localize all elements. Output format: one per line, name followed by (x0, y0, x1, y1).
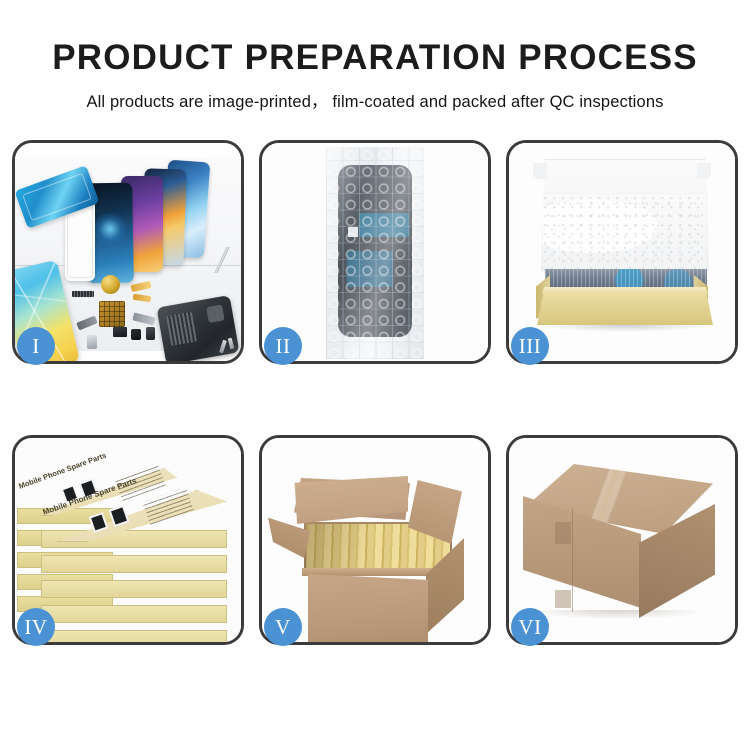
tweezers-tool (205, 247, 239, 273)
drop-shadow (543, 325, 707, 332)
box-stack: Mobile Phone Spare Parts Mobile Phone Sp… (15, 438, 241, 642)
carton-flap-mark-bottom (555, 590, 571, 608)
process-step-4: Mobile Phone Spare Parts Mobile Phone Sp… (12, 435, 244, 645)
carton-front-panel (308, 574, 428, 642)
mailer-front-panel (537, 291, 713, 325)
open-mailer-box-photo (509, 143, 735, 361)
carton-edge-seam (572, 508, 573, 612)
front-box-tier-3 (41, 580, 227, 598)
front-box-tier-2 (41, 555, 227, 573)
step-badge-6: VI (511, 608, 549, 646)
box-print-spec-text-front (142, 487, 193, 525)
stacked-retail-boxes-photo: Mobile Phone Spare Parts Mobile Phone Sp… (15, 438, 241, 642)
process-step-3-image (509, 143, 735, 361)
mailer-lid-tab-right (697, 163, 711, 179)
step-badge-1: I (17, 327, 55, 365)
plastic-gloss-highlight (326, 147, 424, 359)
sealed-shipping-carton-photo (509, 438, 735, 642)
process-step-5: V (259, 435, 491, 645)
earpiece-speaker (72, 291, 94, 297)
vibration-motor (146, 327, 155, 340)
page-subtitle: All products are image-printed， film-coa… (0, 88, 750, 112)
process-step-2-image (262, 143, 488, 361)
chip-grid-part (99, 301, 125, 327)
camera-module-1 (113, 327, 127, 337)
camera-module-2 (131, 329, 141, 340)
step-badge-3: III (511, 327, 549, 365)
front-box-tier-4 (41, 605, 227, 623)
page-title: PRODUCT PREPARATION PROCESS (0, 38, 750, 78)
process-step-1: I (12, 140, 244, 364)
open-shipping-carton-photo (262, 438, 488, 642)
process-step-6-image (509, 438, 735, 642)
front-box-tier-5 (41, 630, 227, 642)
process-step-6: VI (506, 435, 738, 645)
mailer-lid-tab-left (533, 163, 547, 179)
bubble-wrap-pouch-photo (262, 143, 488, 361)
phone-parts-flatlay-photo (15, 143, 241, 361)
carton-flap-mark-top (555, 522, 571, 544)
process-step-5-image (262, 438, 488, 642)
process-step-4-image: Mobile Phone Spare Parts Mobile Phone Sp… (15, 438, 241, 642)
header: PRODUCT PREPARATION PROCESS All products… (0, 0, 750, 112)
gold-boxes-shading (306, 524, 368, 572)
step-badge-5: V (264, 608, 302, 646)
step-badge-4: IV (17, 608, 55, 646)
step-badge-2: II (264, 327, 302, 365)
process-step-3: III (506, 140, 738, 364)
product-preparation-infographic: PRODUCT PREPARATION PROCESS All products… (0, 0, 750, 750)
foam-liner (543, 195, 707, 273)
process-step-grid: I II (12, 140, 738, 672)
process-step-2: II (259, 140, 491, 364)
sim-tray-part (87, 335, 97, 349)
process-step-1-image (15, 143, 241, 361)
phone-back-housing (157, 295, 240, 361)
wireless-charge-coil (101, 275, 120, 294)
drop-shadow (535, 610, 701, 619)
